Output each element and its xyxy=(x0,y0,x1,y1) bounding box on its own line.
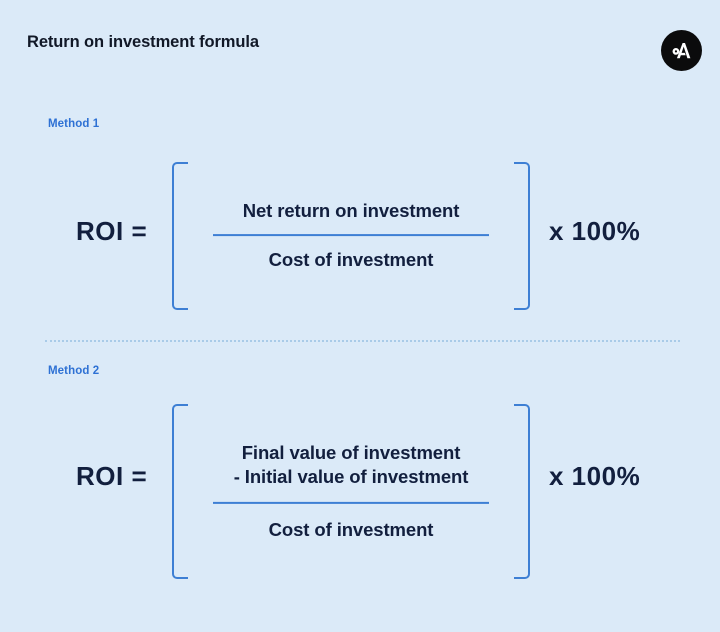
bracket-right-icon xyxy=(514,404,530,579)
method-2-roi-term: ROI = xyxy=(76,461,147,492)
method-2-numerator-line-2: - Initial value of investment xyxy=(202,465,500,489)
bracket-right-icon xyxy=(514,162,530,310)
section-divider xyxy=(45,340,680,342)
method-2-multiplier: x 100% xyxy=(549,461,640,492)
bracket-left-icon xyxy=(172,162,188,310)
method-2-denominator: Cost of investment xyxy=(202,518,500,542)
method-1-denominator: Cost of investment xyxy=(202,249,500,273)
method-1-fraction: Net return on investment Cost of investm… xyxy=(202,199,500,273)
header: Return on investment formula xyxy=(27,30,702,74)
infographic-canvas: Return on investment formula Method 1 RO… xyxy=(0,0,720,632)
fraction-bar-icon xyxy=(213,235,489,237)
method-2-fraction: Final value of investment - Initial valu… xyxy=(202,440,500,542)
fraction-bar-icon xyxy=(213,502,489,504)
page-title: Return on investment formula xyxy=(27,33,259,52)
method-1-numerator: Net return on investment xyxy=(202,199,500,223)
bracket-left-icon xyxy=(172,404,188,579)
method-1-label: Method 1 xyxy=(48,118,99,130)
method-2-bracket-group: Final value of investment - Initial valu… xyxy=(172,404,530,579)
method-1-bracket-group: Net return on investment Cost of investm… xyxy=(172,162,530,310)
method-2-label: Method 2 xyxy=(48,365,99,377)
method-1-roi-term: ROI = xyxy=(76,216,147,247)
method-1-multiplier: x 100% xyxy=(549,216,640,247)
brand-a-logo-icon xyxy=(661,30,702,71)
method-2-numerator-line-1: Final value of investment xyxy=(202,440,500,464)
